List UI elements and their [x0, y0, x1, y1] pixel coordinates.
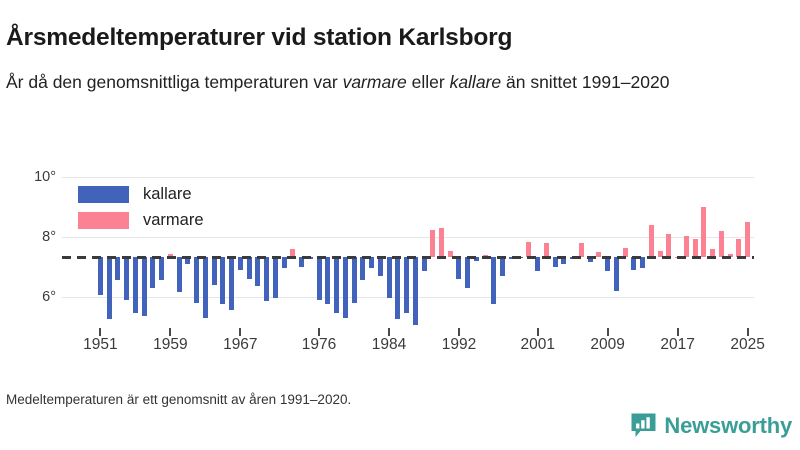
legend-swatch-warm	[78, 212, 129, 229]
bar-1996[interactable]	[491, 257, 496, 304]
bar-2009[interactable]	[605, 257, 610, 271]
bar-1969[interactable]	[255, 257, 260, 286]
bar-2010[interactable]	[614, 257, 619, 291]
x-axis-label-1959: 1959	[153, 336, 187, 354]
x-tick-1967	[239, 328, 241, 336]
y-axis-label-8: 8°	[12, 229, 56, 245]
logo-wordmark: Newsworthy	[664, 413, 792, 439]
average-reference-line	[62, 256, 754, 259]
bar-1952[interactable]	[107, 257, 112, 319]
bar-1954[interactable]	[124, 257, 129, 300]
x-axis-label-2017: 2017	[660, 336, 694, 354]
x-tick-1992	[458, 328, 460, 336]
bar-1980[interactable]	[352, 257, 357, 303]
x-axis-label-1992: 1992	[442, 336, 476, 354]
bar-1963[interactable]	[203, 257, 208, 318]
newsworthy-logo: Newsworthy	[630, 412, 792, 439]
bar-chart-speech-bubble-icon	[630, 412, 657, 439]
x-tick-1976	[318, 328, 320, 336]
x-axis-label-1951: 1951	[83, 336, 117, 354]
bar-1966[interactable]	[229, 257, 234, 310]
bar-2002[interactable]	[544, 243, 549, 257]
x-tick-2009	[607, 328, 609, 336]
bar-1988[interactable]	[422, 257, 427, 271]
x-tick-2025	[747, 328, 749, 336]
x-axis-label-1984: 1984	[372, 336, 406, 354]
bar-1964[interactable]	[212, 257, 217, 285]
bar-1971[interactable]	[273, 257, 278, 298]
gridline-10	[62, 177, 754, 178]
bar-1962[interactable]	[194, 257, 199, 303]
bar-1956[interactable]	[142, 257, 147, 316]
x-axis-label-2025: 2025	[730, 336, 764, 354]
bar-1997[interactable]	[500, 257, 505, 276]
bar-2000[interactable]	[526, 242, 531, 258]
bar-1965[interactable]	[220, 257, 225, 304]
bar-2019[interactable]	[693, 239, 698, 258]
bar-1976[interactable]	[317, 257, 322, 300]
chart-page: Årsmedeltemperaturer vid station Karlsbo…	[0, 0, 800, 450]
x-axis-label-2009: 2009	[590, 336, 624, 354]
bar-2006[interactable]	[579, 243, 584, 257]
bar-2020[interactable]	[701, 207, 706, 257]
bar-2001[interactable]	[535, 257, 540, 271]
y-axis-label-10: 10°	[12, 169, 56, 185]
bar-1960[interactable]	[177, 257, 182, 292]
x-tick-2001	[537, 328, 539, 336]
bar-1983[interactable]	[378, 257, 383, 276]
bar-1990[interactable]	[439, 228, 444, 257]
bar-2018[interactable]	[684, 236, 689, 258]
bar-1981[interactable]	[360, 257, 365, 280]
bar-1986[interactable]	[404, 257, 409, 313]
bar-1984[interactable]	[387, 257, 392, 298]
bar-1957[interactable]	[150, 257, 155, 288]
chart-legend: kallarevarmare	[78, 183, 204, 235]
x-tick-2017	[677, 328, 679, 336]
x-axis-label-1976: 1976	[302, 336, 336, 354]
bar-1953[interactable]	[115, 257, 120, 280]
bar-2014[interactable]	[649, 225, 654, 257]
bar-1958[interactable]	[159, 257, 164, 280]
bar-2025[interactable]	[745, 222, 750, 257]
y-axis-label-6: 6°	[12, 289, 56, 305]
legend-label-warm: varmare	[143, 211, 204, 230]
legend-item-cold[interactable]: kallare	[78, 183, 204, 205]
x-axis-label-1967: 1967	[223, 336, 257, 354]
bar-1992[interactable]	[456, 257, 461, 279]
legend-item-warm[interactable]: varmare	[78, 209, 204, 231]
legend-swatch-cold	[78, 186, 129, 203]
bar-1985[interactable]	[395, 257, 400, 319]
bar-1977[interactable]	[325, 257, 330, 304]
bar-2024[interactable]	[736, 239, 741, 258]
legend-label-cold: kallare	[143, 185, 192, 204]
bar-1978[interactable]	[334, 257, 339, 313]
bar-1970[interactable]	[264, 257, 269, 301]
bar-2016[interactable]	[666, 234, 671, 257]
bar-1955[interactable]	[133, 257, 138, 313]
x-tick-1959	[169, 328, 171, 336]
x-tick-1984	[388, 328, 390, 336]
bar-1989[interactable]	[430, 230, 435, 258]
bar-2022[interactable]	[719, 231, 724, 257]
x-tick-1951	[99, 328, 101, 336]
bar-1993[interactable]	[465, 257, 470, 288]
bar-1979[interactable]	[343, 257, 348, 318]
bar-1951[interactable]	[98, 257, 103, 295]
x-axis-label-2001: 2001	[520, 336, 554, 354]
footer-note: Medeltemperaturen är ett genomsnitt av å…	[6, 392, 351, 407]
bar-1968[interactable]	[247, 257, 252, 279]
bar-1987[interactable]	[413, 257, 418, 325]
